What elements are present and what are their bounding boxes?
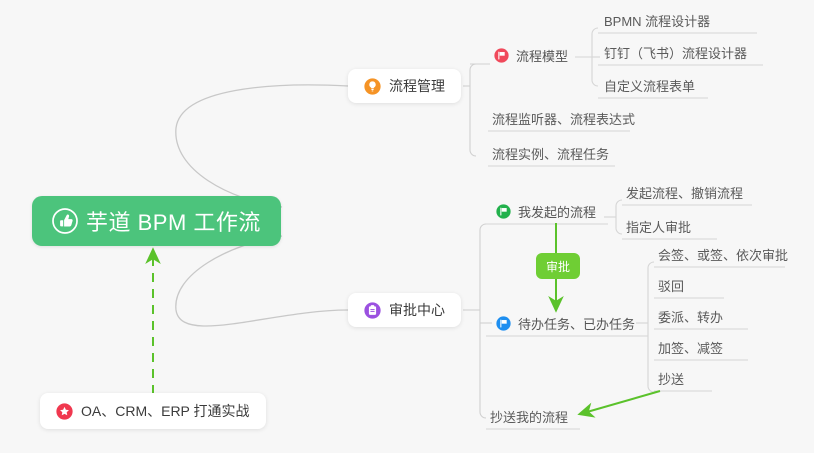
leaf-dingtalk-feishu-designer[interactable]: 钉钉（飞书）流程设计器 [600, 38, 757, 66]
node-listener-expression[interactable]: 流程监听器、流程表达式 [488, 104, 645, 132]
root-node[interactable]: 芋道 BPM 工作流 [32, 196, 281, 246]
leaf-delegate-transfer[interactable]: 委派、转办 [654, 302, 733, 330]
node-todo-done-tasks[interactable]: 待办任务、已办任务 [492, 310, 641, 336]
node-cc-to-me-label: 抄送我的流程 [490, 407, 568, 426]
wire-root-to-process-management [176, 85, 348, 207]
branch-process-management-label: 流程管理 [389, 76, 445, 96]
leaf-start-cancel-process[interactable]: 发起流程、撤销流程 [622, 178, 753, 206]
leaf-bpmn-designer[interactable]: BPMN 流程设计器 [600, 6, 720, 34]
leaf-cc[interactable]: 抄送 [654, 364, 694, 392]
approval-tag-label: 审批 [546, 258, 570, 275]
leaf-assignee-approval-label: 指定人审批 [626, 217, 691, 236]
node-instance-task[interactable]: 流程实例、流程任务 [488, 139, 619, 167]
leaf-add-remove-sign[interactable]: 加签、减签 [654, 333, 733, 361]
leaf-bpmn-designer-label: BPMN 流程设计器 [604, 11, 710, 30]
footnote-node[interactable]: OA、CRM、ERP 打通实战 [40, 393, 266, 429]
mindmap-canvas: 芋道 BPM 工作流 OA、CRM、ERP 打通实战 流程管理 [0, 0, 814, 453]
root-label: 芋道 BPM 工作流 [86, 205, 261, 237]
clipboard-icon [364, 302, 381, 319]
leaf-countersign-or-sequential-label: 会签、或签、依次审批 [658, 245, 788, 264]
branch-process-management[interactable]: 流程管理 [348, 69, 461, 103]
leaf-cc-label: 抄送 [658, 369, 684, 388]
branch-approval-center[interactable]: 审批中心 [348, 293, 461, 327]
leaf-assignee-approval[interactable]: 指定人审批 [622, 212, 701, 240]
node-process-model-label: 流程模型 [516, 46, 568, 65]
thumbs-up-icon [52, 208, 78, 234]
leaf-custom-process-form[interactable]: 自定义流程表单 [600, 71, 705, 99]
wire-pm-spine [470, 64, 476, 156]
lightbulb-icon [364, 78, 381, 95]
approval-tag[interactable]: 审批 [536, 253, 580, 279]
leaf-reject[interactable]: 驳回 [654, 271, 694, 299]
leaf-dingtalk-feishu-designer-label: 钉钉（飞书）流程设计器 [604, 43, 747, 62]
arrow-cc-to-ccme [580, 391, 660, 414]
node-process-model[interactable]: 流程模型 [490, 42, 574, 68]
node-my-initiated[interactable]: 我发起的流程 [492, 198, 602, 224]
leaf-custom-process-form-label: 自定义流程表单 [604, 76, 695, 95]
wire-root-to-approval-center [176, 236, 348, 326]
footnote-label: OA、CRM、ERP 打通实战 [81, 401, 250, 421]
node-listener-expression-label: 流程监听器、流程表达式 [492, 109, 635, 128]
node-my-initiated-label: 我发起的流程 [518, 202, 596, 221]
wire-ac-spine [480, 224, 486, 418]
flag-icon [496, 204, 511, 219]
wire-pmodel-spine [592, 28, 598, 86]
leaf-add-remove-sign-label: 加签、减签 [658, 338, 723, 357]
branch-approval-center-label: 审批中心 [389, 300, 445, 320]
leaf-delegate-transfer-label: 委派、转办 [658, 307, 723, 326]
node-cc-to-me[interactable]: 抄送我的流程 [486, 402, 578, 430]
star-icon [56, 403, 73, 420]
flag-icon [494, 48, 509, 63]
leaf-countersign-or-sequential[interactable]: 会签、或签、依次审批 [654, 240, 798, 268]
node-todo-done-tasks-label: 待办任务、已办任务 [518, 314, 635, 333]
node-instance-task-label: 流程实例、流程任务 [492, 144, 609, 163]
leaf-reject-label: 驳回 [658, 276, 684, 295]
leaf-start-cancel-process-label: 发起流程、撤销流程 [626, 183, 743, 202]
flag-icon [496, 316, 511, 331]
